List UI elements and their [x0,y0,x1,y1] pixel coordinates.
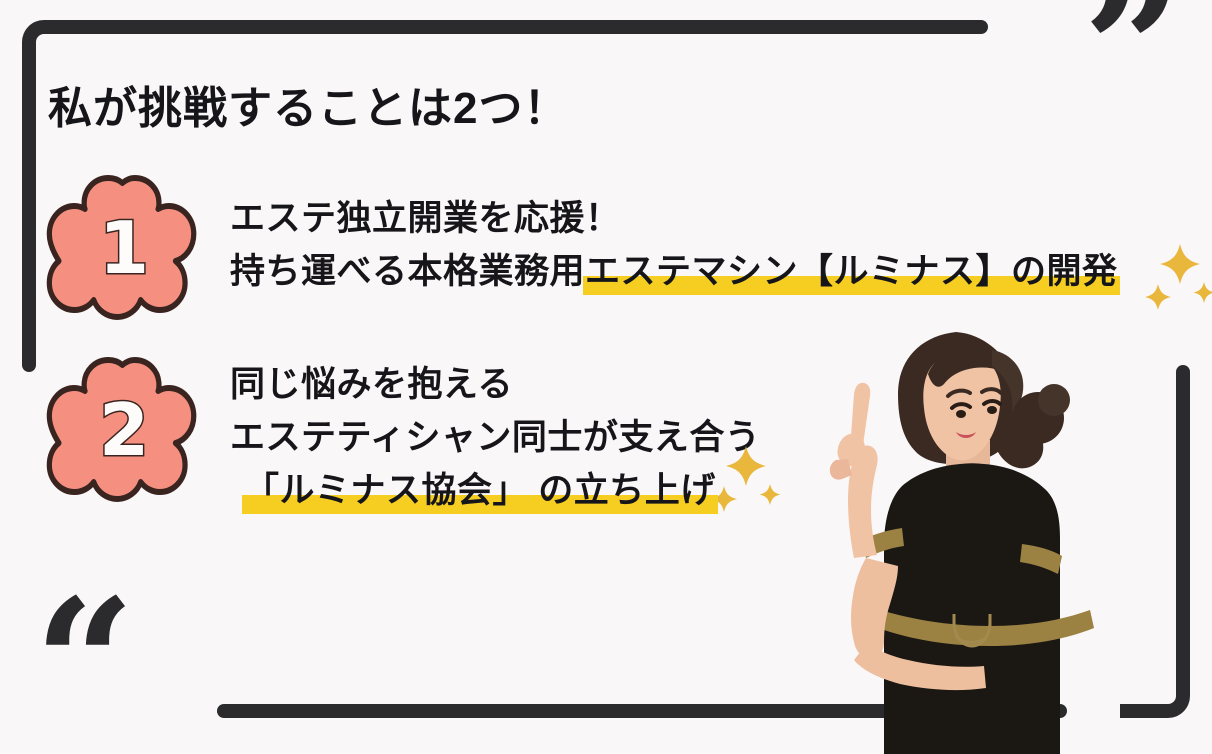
woman-pointing-up-photo [806,322,1136,754]
list-item: 1 エステ独立開業を応援！ 持ち運べる本格業務用エステマシン【ルミナス】の開発 [44,170,1118,325]
closing-quote-icon: ” [1083,0,1184,138]
frame-edge-top [84,20,988,34]
opening-quote-icon: “ [34,576,135,752]
item-line-highlight: 「ルミナス協会」 の立ち上げ [244,471,716,510]
badge-number: 1 [44,170,204,325]
list-item: 2 同じ悩みを抱える エステティシャン同士が支え合う 「ルミナス協会」 の立ち上… [44,352,760,518]
frame-edge-right [1176,365,1190,657]
item-line: エステティシャン同士が支え合う [230,411,760,464]
flower-badge-1: 1 [44,170,204,325]
badge-number: 2 [44,352,204,507]
item-line: 「ルミナス協会」 の立ち上げ [230,464,760,517]
item-text-block: エステ独立開業を応援！ 持ち運べる本格業務用エステマシン【ルミナス】の開発 [230,170,1118,298]
page-title: 私が挑戦することは2つ！ [48,72,568,136]
item-line: 持ち運べる本格業務用エステマシン【ルミナス】の開発 [230,245,1118,298]
sparkles-icon [1140,240,1212,316]
frame-edge-left [22,82,36,372]
item-line: エステ独立開業を応援！ [230,192,1118,245]
item-line-text: エステ独立開業を応援！ [230,199,621,238]
flower-badge-2: 2 [44,352,204,507]
item-text-block: 同じ悩みを抱える エステティシャン同士が支え合う 「ルミナス協会」 の立ち上げ [230,352,760,518]
item-line-text: エステティシャン同士が支え合う [230,418,760,457]
item-line-text: 同じ悩みを抱える [230,365,513,404]
item-line-plain: 持ち運べる本格業務用 [230,252,585,291]
item-line-highlight: エステマシン【ルミナス】の開発 [585,252,1118,291]
slide-canvas: ” “ 私が挑戦することは2つ！ 1 エステ独立開業を応援！ 持ち運べる本格業務… [0,0,1212,754]
item-line: 同じ悩みを抱える [230,358,760,411]
